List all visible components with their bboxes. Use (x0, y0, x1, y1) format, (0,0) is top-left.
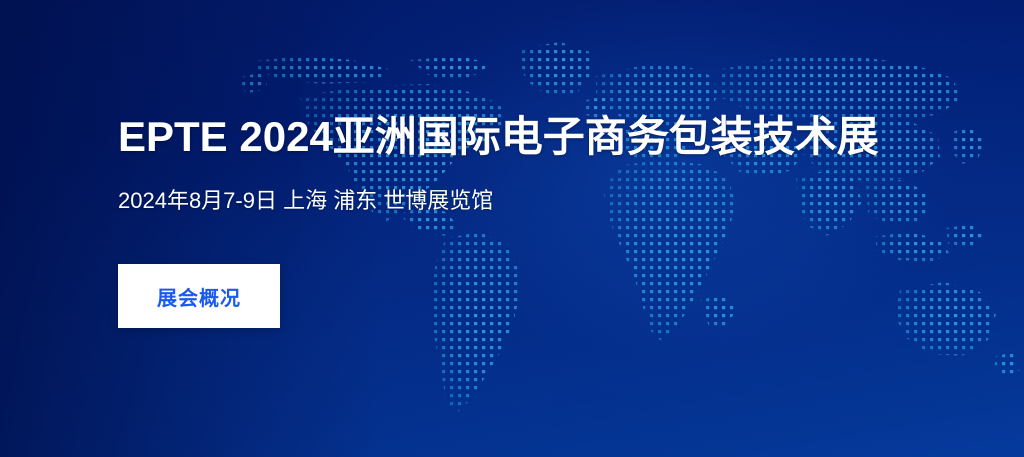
cta-container: 展会概况 (118, 216, 978, 328)
page-title: EPTE 2024亚洲国际电子商务包装技术展 (118, 112, 978, 162)
hero-banner: EPTE 2024亚洲国际电子商务包装技术展 2024年8月7-9日 上海 浦东… (0, 0, 1024, 457)
banner-content: EPTE 2024亚洲国际电子商务包装技术展 2024年8月7-9日 上海 浦东… (118, 112, 978, 328)
event-date-venue: 2024年8月7-9日 上海 浦东 世博展览馆 (118, 162, 978, 216)
exhibition-overview-button[interactable]: 展会概况 (118, 264, 280, 328)
